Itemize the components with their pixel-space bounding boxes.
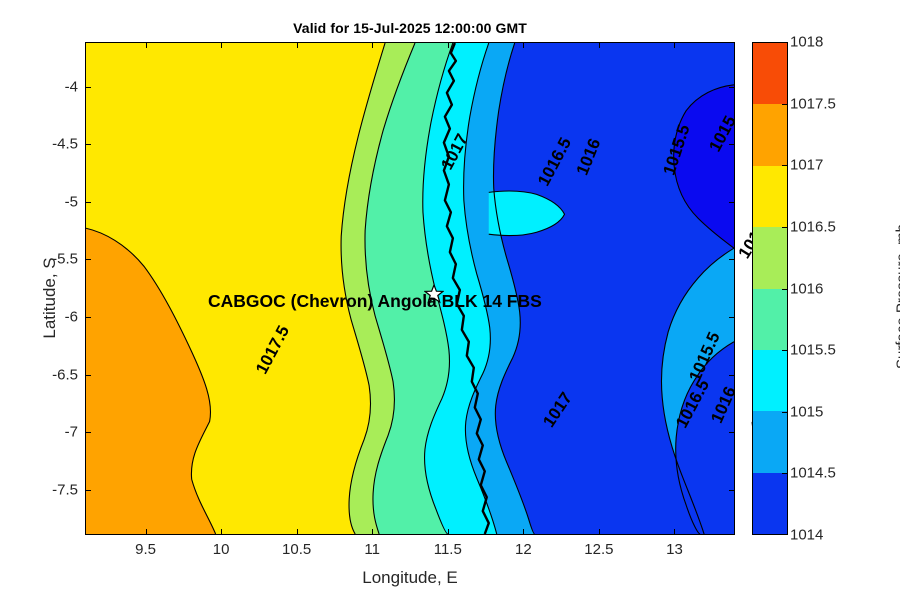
x-tick-mark [297, 42, 298, 48]
y-tick-mark [729, 317, 735, 318]
colorbar-band [753, 350, 787, 411]
x-tick-mark [599, 529, 600, 535]
y-tick-mark [729, 490, 735, 491]
y-axis-label: Latitude, S [40, 188, 60, 408]
contour-plot-area[interactable] [85, 42, 735, 535]
x-tick-label: 13 [666, 541, 683, 558]
surface-pressure-map: Valid for 15-Jul-2025 12:00:00 GMT [0, 0, 900, 600]
y-tick-label: -6 [65, 309, 78, 326]
colorbar-tick-mark [782, 350, 788, 351]
x-tick-mark [372, 529, 373, 535]
colorbar-label: Surface Pressure, mb [894, 167, 900, 427]
colorbar-tick-label: 1016 [790, 280, 823, 297]
y-tick-mark [85, 317, 91, 318]
x-tick-mark [448, 529, 449, 535]
y-tick-mark [85, 144, 91, 145]
y-tick-label: -7 [65, 424, 78, 441]
colorbar-tick-label: 1014 [790, 527, 823, 544]
colorbar-band [753, 411, 787, 472]
x-tick-label: 11.5 [434, 541, 462, 558]
colorbar-tick-label: 1017.5 [790, 95, 836, 112]
x-tick-mark [448, 42, 449, 48]
colorbar-tick-label: 1015 [790, 403, 823, 420]
colorbar-band [753, 166, 787, 227]
x-tick-label: 10.5 [282, 541, 311, 558]
x-axis-label: Longitude, E [85, 568, 735, 588]
y-tick-mark [85, 432, 91, 433]
y-tick-mark [85, 259, 91, 260]
y-tick-label: -7.5 [52, 481, 78, 498]
x-tick-label: 11 [364, 541, 380, 558]
y-tick-mark [85, 202, 91, 203]
colorbar-tick-mark [782, 227, 788, 228]
y-tick-label: -5 [65, 193, 78, 210]
x-tick-mark [372, 42, 373, 48]
colorbar-tick-label: 1015.5 [790, 342, 836, 359]
x-tick-mark [146, 42, 147, 48]
colorbar-tick-label: 1017 [790, 157, 823, 174]
contour-line-layer [86, 43, 734, 534]
y-tick-mark [729, 375, 735, 376]
y-tick-mark [729, 259, 735, 260]
colorbar-band [753, 43, 787, 104]
y-tick-mark [85, 87, 91, 88]
y-tick-mark [729, 87, 735, 88]
x-tick-mark [523, 42, 524, 48]
colorbar-tick-mark [782, 165, 788, 166]
x-tick-label: 12.5 [584, 541, 613, 558]
colorbar-tick-mark [782, 289, 788, 290]
y-tick-label: -4 [65, 78, 78, 95]
y-tick-mark [729, 202, 735, 203]
x-tick-mark [221, 42, 222, 48]
colorbar-tick-label: 1018 [790, 34, 823, 51]
page-title: Valid for 15-Jul-2025 12:00:00 GMT [85, 20, 735, 36]
x-tick-label: 12 [515, 541, 532, 558]
x-tick-label: 9.5 [135, 541, 156, 558]
colorbar-tick-label: 1016.5 [790, 218, 836, 235]
x-tick-mark [297, 529, 298, 535]
colorbar-tick-label: 1014.5 [790, 465, 836, 482]
x-tick-mark [674, 42, 675, 48]
x-tick-mark [523, 529, 524, 535]
y-tick-mark [85, 375, 91, 376]
colorbar-band [753, 473, 787, 534]
x-tick-mark [599, 42, 600, 48]
colorbar-band [753, 289, 787, 350]
y-tick-label: -4.5 [52, 136, 78, 153]
x-tick-mark [221, 529, 222, 535]
x-tick-label: 10 [213, 541, 230, 558]
y-tick-mark [729, 432, 735, 433]
y-tick-mark [85, 490, 91, 491]
x-tick-mark [146, 529, 147, 535]
station-label: CABGOC (Chevron) Angola BLK 14 FBS [208, 291, 542, 312]
colorbar-tick-mark [782, 473, 788, 474]
y-tick-mark [729, 144, 735, 145]
colorbar-tick-mark [782, 412, 788, 413]
colorbar-band [753, 104, 787, 165]
colorbar-tick-mark [782, 104, 788, 105]
x-tick-mark [674, 529, 675, 535]
colorbar-band [753, 227, 787, 288]
